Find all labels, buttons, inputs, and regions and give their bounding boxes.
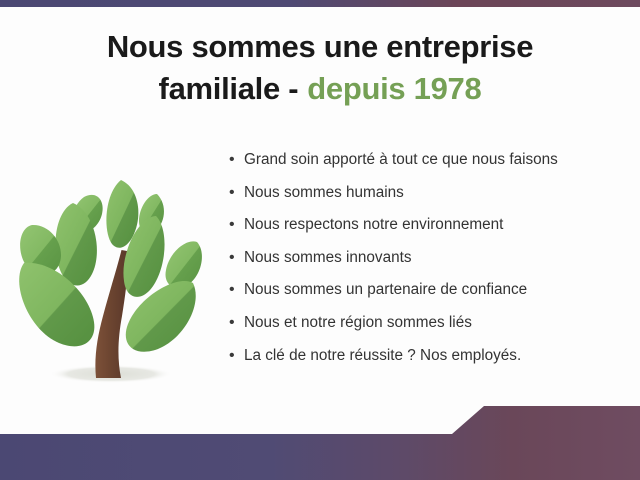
tree-logo-illustration (8, 150, 213, 390)
bullet-marker-icon: • (229, 247, 244, 269)
page-title: Nous sommes une entreprise familiale -de… (0, 26, 640, 110)
top-accent-bar (0, 0, 640, 7)
list-item: • Nous sommes innovants (229, 247, 629, 280)
bullet-marker-icon: • (229, 345, 244, 367)
page-title-line-2-plain: familiale - (159, 71, 299, 106)
tree-trunk (95, 250, 127, 378)
list-item-label: Nous et notre région sommes liés (244, 312, 472, 334)
page-title-line-2: familiale -depuis 1978 (0, 68, 640, 110)
footer-bar: tabor-automobiles.fr (0, 400, 640, 480)
list-item-label: Nous sommes un partenaire de confiance (244, 279, 527, 301)
list-item: • Nous sommes un partenaire de confiance (229, 279, 629, 312)
list-item: • Nous sommes humains (229, 182, 629, 215)
list-item: • La clé de notre réussite ? Nos employé… (229, 345, 629, 378)
slide-canvas: Nous sommes une entreprise familiale -de… (0, 0, 640, 480)
value-proposition-list: • Grand soin apporté à tout ce que nous … (229, 149, 629, 377)
list-item: • Grand soin apporté à tout ce que nous … (229, 149, 629, 182)
list-item-label: Grand soin apporté à tout ce que nous fa… (244, 149, 558, 171)
page-title-accent: depuis 1978 (307, 71, 481, 106)
bullet-marker-icon: • (229, 182, 244, 204)
bullet-marker-icon: • (229, 312, 244, 334)
list-item-label: Nous respectons notre environnement (244, 214, 503, 236)
bullet-marker-icon: • (229, 279, 244, 301)
footer-shape (0, 400, 640, 480)
bullet-marker-icon: • (229, 214, 244, 236)
list-item: • Nous et notre région sommes liés (229, 312, 629, 345)
page-title-line-1: Nous sommes une entreprise (0, 26, 640, 68)
list-item: • Nous respectons notre environnement (229, 214, 629, 247)
list-item-label: Nous sommes humains (244, 182, 404, 204)
list-item-label: La clé de notre réussite ? Nos employés. (244, 345, 521, 367)
list-item-label: Nous sommes innovants (244, 247, 412, 269)
bullet-marker-icon: • (229, 149, 244, 171)
